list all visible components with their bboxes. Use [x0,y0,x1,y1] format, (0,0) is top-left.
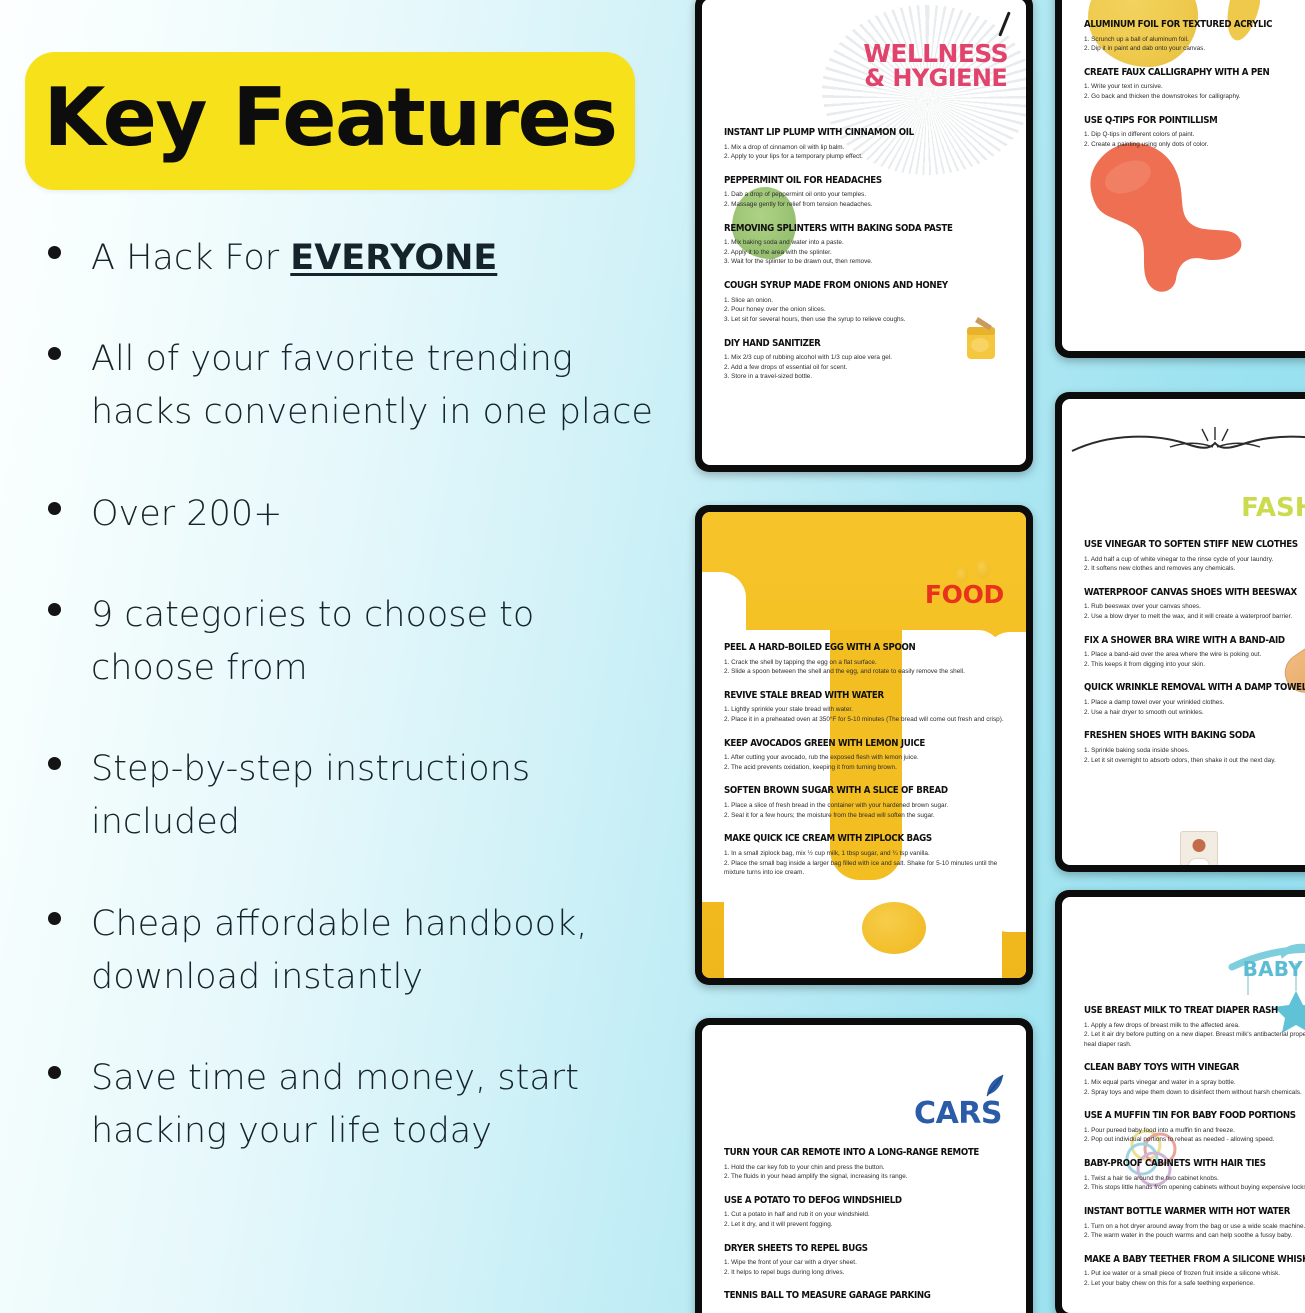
wellness-logo-line1: WELLNESS [863,41,1008,66]
hack-title: USE A MUFFIN TIN FOR BABY FOOD PORTIONS [1084,1110,1305,1122]
hack-title: CREATE FAUX CALLIGRAPHY WITH A PEN [1084,67,1305,79]
left-content-panel: Key Features A Hack For EVERYONEAll of y… [0,0,690,1313]
card-fashion: FASHION USE VINEGAR TO SOFTEN STIFF NEW … [1055,392,1305,872]
hack-entry: USE A POTATO TO DEFOG WINDSHIELD1. Cut a… [724,1195,1004,1230]
hack-entry: CLEAN BABY TOYS WITH VINEGAR1. Mix equal… [1084,1062,1305,1097]
hack-steps: 1. Crack the shell by tapping the egg on… [724,658,1004,677]
hack-title: PEEL A HARD-BOILED EGG WITH A SPOON [724,642,984,654]
hack-steps: 1. Place a band-aid over the area where … [1084,650,1305,669]
hack-step: 2. The acid prevents oxidation, keeping … [724,763,1004,773]
fashion-hack-list: USE VINEGAR TO SOFTEN STIFF NEW CLOTHES1… [1062,539,1305,778]
food-logo: FOOD [925,582,1004,607]
hack-steps: 1. Mix a drop of cinnamon oil with lip b… [724,143,1004,162]
hack-step: 2. Massage gently for relief from tensio… [724,200,1004,210]
hack-entry: DRYER SHEETS TO REPEL BUGS1. Wipe the fr… [724,1243,1004,1278]
hack-title: TURN YOUR CAR REMOTE INTO A LONG-RANGE R… [724,1147,984,1159]
hack-step: 2. It helps to repel bugs during long dr… [724,1268,1004,1278]
hack-title: ALUMINUM FOIL FOR TEXTURED ACRYLIC [1084,19,1305,31]
hack-steps: 1. Turn on a hot dryer around away from … [1084,1222,1305,1241]
hack-step: 1. Put ice water or a small piece of fro… [1084,1269,1305,1279]
hack-step: 2. Place the small bag inside a larger b… [724,859,1004,878]
hack-entry: REVIVE STALE BREAD WITH WATER1. Lightly … [724,690,1004,725]
card-art-crafts: 2. Paint over the entire surface with wa… [1055,0,1305,358]
wellness-hack-list: INSTANT LIP PLUMP WITH CINNAMON OIL1. Mi… [702,127,1026,395]
hack-title: DIY HAND SANITIZER [724,338,984,350]
feature-item: Cheap affordable handbook, download inst… [48,898,688,1004]
page-title: Key Features [43,78,616,158]
bullet-icon [48,1066,61,1079]
hack-step: 1. Sprinkle baking soda inside shoes. [1084,746,1305,756]
hack-title: PEPPERMINT OIL FOR HEADACHES [724,175,984,187]
hack-entry: INSTANT LIP PLUMP WITH CINNAMON OIL1. Mi… [724,127,1004,162]
hack-title: COUGH SYRUP MADE FROM ONIONS AND HONEY [724,280,984,292]
hack-step: 3. Let sit for several hours, then use t… [724,315,1004,325]
hack-steps: 1. After cutting your avocado, rub the e… [724,753,1004,772]
hack-step: 1. Rub beeswax over your canvas shoes. [1084,602,1305,612]
baking-soda-box-icon [1180,831,1218,865]
hack-step: 2. The fluids in your head amplify the s… [724,1172,1004,1182]
hack-steps: 1. Put ice water or a small piece of fro… [1084,1269,1305,1288]
hack-title: BABY-PROOF CABINETS WITH HAIR TIES [1084,1158,1305,1170]
feature-text: Save time and money, start hacking your … [91,1052,656,1158]
hack-step: 1. Place a band-aid over the area where … [1084,650,1305,660]
hack-steps: 1. Twist a hair tie around the two cabin… [1084,1174,1305,1193]
hack-entry: USE A MUFFIN TIN FOR BABY FOOD PORTIONS1… [1084,1110,1305,1145]
cars-hack-list: TURN YOUR CAR REMOTE INTO A LONG-RANGE R… [702,1147,1026,1313]
hack-steps: 1. Hold the car key fob to your chin and… [724,1163,1004,1182]
hack-step: 1. Write your text in cursive. [1084,82,1305,92]
hack-step: 2. Let it air dry before putting on a ne… [1084,1030,1305,1049]
hack-step: 2. Let your baby chew on this for a safe… [1084,1279,1305,1289]
hack-entry: PEEL A HARD-BOILED EGG WITH A SPOON1. Cr… [724,642,1004,677]
hack-title: INSTANT LIP PLUMP WITH CINNAMON OIL [724,127,984,139]
feature-item: All of your favorite trending hacks conv… [48,333,688,439]
hack-step: 1. Mix a drop of cinnamon oil with lip b… [724,143,1004,153]
wellness-logo: WELLNESS & HYGIENE [863,41,1008,90]
hack-step: 1. Hold the car key fob to your chin and… [724,1163,1004,1173]
feature-text: 9 categories to choose to choose from [91,589,656,695]
hack-steps: 1. Pour pureed baby food into a muffin t… [1084,1126,1305,1145]
card-wellness-hygiene: WELLNESS & HYGIENE INSTANT LIP PLUMP WIT… [695,0,1033,472]
hack-steps: 1. Scrunch up a ball of aluminum foil.2.… [1084,35,1305,54]
hack-step: 2. Let it dry, and it will prevent foggi… [724,1220,1004,1230]
hack-title: USE Q-TIPS FOR POINTILLISM [1084,115,1305,127]
art-hack-list: ALUMINUM FOIL FOR TEXTURED ACRYLIC1. Scr… [1062,19,1305,162]
hack-entry: INSTANT BOTTLE WARMER WITH HOT WATER1. T… [1084,1206,1305,1241]
fashion-logo: FASHION [1241,495,1305,521]
hack-steps: 1. In a small ziplock bag, mix ½ cup mil… [724,849,1004,878]
hack-step: 2. Go back and thicken the downstrokes f… [1084,92,1305,102]
feature-text: Step-by-step instructions included [91,743,656,849]
hack-step: 2. Seal it for a few hours; the moisture… [724,811,1004,821]
hack-entry: COUGH SYRUP MADE FROM ONIONS AND HONEY1.… [724,280,1004,324]
hack-step: 1. Apply a few drops of breast milk to t… [1084,1021,1305,1031]
feature-item: A Hack For EVERYONE [48,232,688,285]
hack-entry: PEPPERMINT OIL FOR HEADACHES1. Dab a dro… [724,175,1004,210]
card-page: BABY CARE A B C USE BREAST MILK TO TREAT… [1062,897,1305,1313]
bullet-icon [48,603,61,616]
hack-title: REVIVE STALE BREAD WITH WATER [724,690,984,702]
bullet-icon [48,757,61,770]
hack-step: 1. Slice an onion. [724,296,1004,306]
hack-step: 1. Wipe the front of your car with a dry… [724,1258,1004,1268]
hack-step: 1. Mix baking soda and water into a past… [724,238,1004,248]
hack-title: TENNIS BALL TO MEASURE GARAGE PARKING [724,1290,984,1302]
hack-step: 2. This stops little hands from opening … [1084,1183,1305,1193]
hack-title: DRYER SHEETS TO REPEL BUGS [724,1243,984,1255]
feature-item: Step-by-step instructions included [48,743,688,849]
hack-entry: SOFTEN BROWN SUGAR WITH A SLICE OF BREAD… [724,785,1004,820]
hack-title: REMOVING SPLINTERS WITH BAKING SODA PAST… [724,223,984,235]
hack-step: 1. Cut a potato in half and rub it on yo… [724,1210,1004,1220]
hack-title: WATERPROOF CANVAS SHOES WITH BEESWAX [1084,587,1305,599]
hack-step: 2. Let it sit overnight to absorb odors,… [1084,756,1305,766]
hack-step: 1. Place a slice of fresh bread in the c… [724,801,1004,811]
hack-title: MAKE A BABY TEETHER FROM A SILICONE WHIS… [1084,1254,1305,1266]
hack-entry: KEEP AVOCADOS GREEN WITH LEMON JUICE1. A… [724,738,1004,773]
hack-step: 2. Create a painting using only dots of … [1084,140,1305,150]
hack-step: 2. It softens new clothes and removes an… [1084,564,1305,574]
honey-drop-1 [862,902,926,954]
hack-entry: MAKE A BABY TEETHER FROM A SILICONE WHIS… [1084,1254,1305,1289]
hack-step: 2. Apply it to the area with the splinte… [724,248,1004,258]
hack-step: 2. Add a few drops of essential oil for … [724,363,1004,373]
hack-entry: USE Q-TIPS FOR POINTILLISM1. Dip Q-tips … [1084,115,1305,150]
hack-steps: 1. Add half a cup of white vinegar to th… [1084,555,1305,574]
hack-step: 1. In a small ziplock bag, mix ½ cup mil… [724,849,1004,859]
hack-title: SOFTEN BROWN SUGAR WITH A SLICE OF BREAD [724,785,984,797]
hack-step: 2. This keeps it from digging into your … [1084,660,1305,670]
hack-title: MAKE QUICK ICE CREAM WITH ZIPLOCK BAGS [724,833,984,845]
hack-step: 1. Mix equal parts vinegar and water in … [1084,1078,1305,1088]
card-page: CARS TURN YOUR CAR REMOTE INTO A LONG-RA… [702,1025,1026,1313]
feature-item: Over 200+ [48,488,688,541]
hack-steps: 1. Place a slice of fresh bread in the c… [724,801,1004,820]
hack-step: 1. After cutting your avocado, rub the e… [724,753,1004,763]
hack-step: 1. Pour pureed baby food into a muffin t… [1084,1126,1305,1136]
hack-entry: TURN YOUR CAR REMOTE INTO A LONG-RANGE R… [724,1147,1004,1182]
bullet-icon [48,347,61,360]
hack-step: 2. The warm water in the pouch warms and… [1084,1231,1305,1241]
hack-steps: 1. Mix baking soda and water into a past… [724,238,1004,267]
hack-entry: TENNIS BALL TO MEASURE GARAGE PARKING [724,1290,1004,1302]
hack-step: 3. Wait for the splinter to be drawn out… [724,257,1004,267]
hack-step: 2. Use a hair dryer to smooth out wrinkl… [1084,708,1305,718]
flourish-divider-icon [1070,425,1305,465]
hack-steps: 1. Write your text in cursive.2. Go back… [1084,82,1305,101]
hack-step: 1. Place a damp towel over your wrinkled… [1084,698,1305,708]
feature-text: A Hack For EVERYONE [91,232,497,285]
hack-entry: CREATE FAUX CALLIGRAPHY WITH A PEN1. Wri… [1084,67,1305,102]
wellness-logo-line2: & HYGIENE [863,66,1008,90]
hack-step: 1. Turn on a hot dryer around away from … [1084,1222,1305,1232]
card-food: FOOD PEEL A HARD-BOILED EGG WITH A SPOON… [695,505,1033,985]
hack-step: 1. Dab a drop of peppermint oil onto you… [724,190,1004,200]
hack-title: USE BREAST MILK TO TREAT DIAPER RASH [1084,1005,1305,1017]
hack-step: 2. Spray toys and wipe them down to disi… [1084,1088,1305,1098]
hack-step: 1. Add half a cup of white vinegar to th… [1084,555,1305,565]
hack-steps: 1. Place a damp towel over your wrinkled… [1084,698,1305,717]
hack-step: 1. Lightly sprinkle your stale bread wit… [724,705,1004,715]
hack-step: 2. Use a blow dryer to melt the wax, and… [1084,612,1305,622]
feature-text: Over 200+ [91,488,282,541]
hack-entry: ALUMINUM FOIL FOR TEXTURED ACRYLIC1. Scr… [1084,19,1305,54]
hack-steps: 1. Mix equal parts vinegar and water in … [1084,1078,1305,1097]
hack-steps: 1. Dip Q-tips in different colors of pai… [1084,130,1305,149]
hack-step: 1. Twist a hair tie around the two cabin… [1084,1174,1305,1184]
hack-entry: BABY-PROOF CABINETS WITH HAIR TIES1. Twi… [1084,1158,1305,1193]
card-page: FASHION USE VINEGAR TO SOFTEN STIFF NEW … [1062,399,1305,865]
hack-entry: REMOVING SPLINTERS WITH BAKING SODA PAST… [724,223,1004,267]
feature-text: All of your favorite trending hacks conv… [91,333,656,439]
hack-steps: 1. Sprinkle baking soda inside shoes.2. … [1084,746,1305,765]
feature-item: Save time and money, start hacking your … [48,1052,688,1158]
hack-step: 1. Scrunch up a ball of aluminum foil. [1084,35,1305,45]
feature-emphasis: EVERYONE [290,238,497,278]
hack-title: USE A POTATO TO DEFOG WINDSHIELD [724,1195,984,1207]
hack-step: 1. Mix 2/3 cup of rubbing alcohol with 1… [724,353,1004,363]
hack-title: FIX A SHOWER BRA WIRE WITH A BAND-AID [1084,635,1305,647]
card-cars: CARS TURN YOUR CAR REMOTE INTO A LONG-RA… [695,1018,1033,1313]
hack-steps: 1. Lightly sprinkle your stale bread wit… [724,705,1004,724]
hack-title: KEEP AVOCADOS GREEN WITH LEMON JUICE [724,738,984,750]
bullet-icon [48,246,61,259]
hack-title: FRESHEN SHOES WITH BAKING SODA [1084,730,1305,742]
hack-steps: 1. Mix 2/3 cup of rubbing alcohol with 1… [724,353,1004,382]
hack-step: 1. Crack the shell by tapping the egg on… [724,658,1004,668]
card-baby-care: BABY CARE A B C USE BREAST MILK TO TREAT… [1055,890,1305,1313]
card-page: 2. Paint over the entire surface with wa… [1062,0,1305,351]
hack-entry: MAKE QUICK ICE CREAM WITH ZIPLOCK BAGS1.… [724,833,1004,877]
hack-title: QUICK WRINKLE REMOVAL WITH A DAMP TOWEL [1084,682,1305,694]
hack-steps: 1. Wipe the front of your car with a dry… [724,1258,1004,1277]
page-title-badge: Key Features [25,52,635,190]
feature-list: A Hack For EVERYONEAll of your favorite … [48,232,688,1206]
hack-steps: 1. Cut a potato in half and rub it on yo… [724,1210,1004,1229]
hack-entry: USE BREAST MILK TO TREAT DIAPER RASH1. A… [1084,1005,1305,1049]
hack-steps: 1. Dab a drop of peppermint oil onto you… [724,190,1004,209]
hack-step: 3. Store in a travel-sized bottle. [724,372,1004,382]
card-page: FOOD PEEL A HARD-BOILED EGG WITH A SPOON… [702,512,1026,978]
hack-steps: 1. Slice an onion.2. Pour honey over the… [724,296,1004,325]
hack-entry: USE VINEGAR TO SOFTEN STIFF NEW CLOTHES1… [1084,539,1305,574]
hack-steps: 1. Apply a few drops of breast milk to t… [1084,1021,1305,1050]
bullet-icon [48,502,61,515]
food-hack-list: PEEL A HARD-BOILED EGG WITH A SPOON1. Cr… [702,642,1026,891]
feature-text: Cheap affordable handbook, download inst… [91,898,656,1004]
hack-title: USE VINEGAR TO SOFTEN STIFF NEW CLOTHES [1084,539,1305,551]
hack-step: 1. Dip Q-tips in different colors of pai… [1084,130,1305,140]
hack-step: 2. Slide a spoon between the shell and t… [724,667,1004,677]
hack-step: 2. Place it in a preheated oven at 350°F… [724,715,1004,725]
hack-step: 2. Apply to your lips for a temporary pl… [724,152,1004,162]
hack-step: 2. Pour honey over the onion slices. [724,305,1004,315]
card-page: WELLNESS & HYGIENE INSTANT LIP PLUMP WIT… [702,0,1026,465]
honey-drop-2 [976,560,990,578]
baby-logo: BABY CARE [1243,959,1305,979]
hack-step: 2. Pop out individual portions to reheat… [1084,1135,1305,1145]
key-features-slide: Key Features A Hack For EVERYONEAll of y… [0,0,1305,1313]
hack-step: 2. Dip it in paint and dab onto your can… [1084,44,1305,54]
hack-entry: DIY HAND SANITIZER1. Mix 2/3 cup of rubb… [724,338,1004,382]
hack-entry: FIX A SHOWER BRA WIRE WITH A BAND-AID1. … [1084,635,1305,670]
hack-entry: QUICK WRINKLE REMOVAL WITH A DAMP TOWEL1… [1084,682,1305,717]
hack-title: CLEAN BABY TOYS WITH VINEGAR [1084,1062,1305,1074]
hack-title: INSTANT BOTTLE WARMER WITH HOT WATER [1084,1206,1305,1218]
feature-item: 9 categories to choose to choose from [48,589,688,695]
hack-entry: WATERPROOF CANVAS SHOES WITH BEESWAX1. R… [1084,587,1305,622]
bullet-icon [48,912,61,925]
hack-steps: 1. Rub beeswax over your canvas shoes.2.… [1084,602,1305,621]
cars-logo: CARS [914,1099,1002,1129]
hack-entry: FRESHEN SHOES WITH BAKING SODA1. Sprinkl… [1084,730,1305,765]
